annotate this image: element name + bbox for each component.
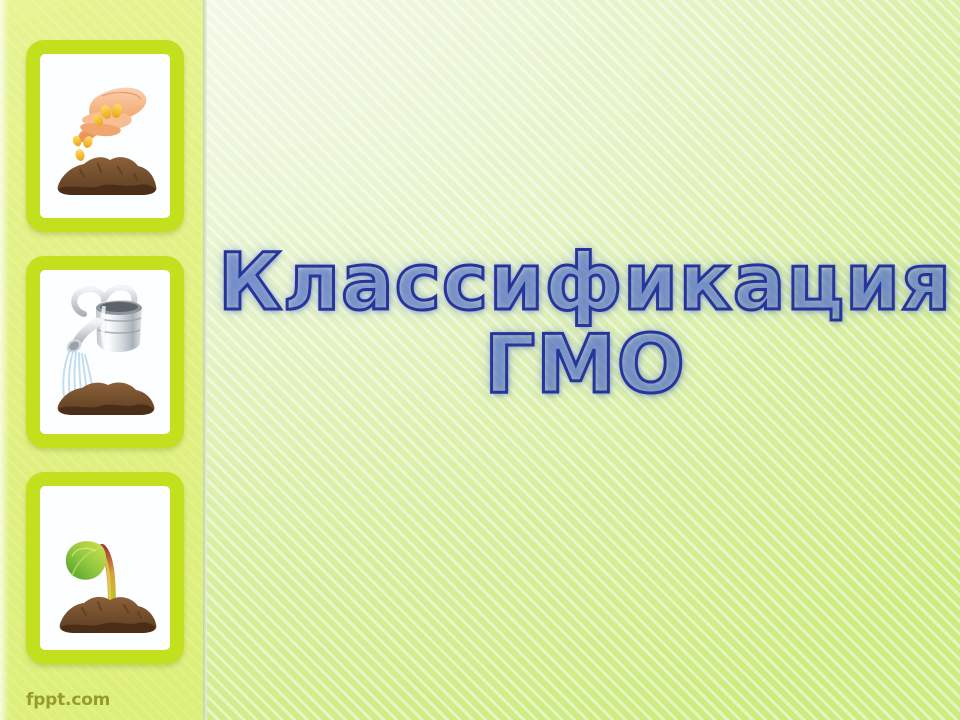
sprout-card-face [40, 486, 170, 650]
sowing-seeds-icon [40, 54, 170, 218]
watering-can-card-face [40, 270, 170, 434]
watering-can-icon [40, 270, 170, 434]
sowing-seeds-card-face [40, 54, 170, 218]
sidebar-edge-highlight [0, 0, 9, 720]
slide-title-line-2: ГМО [210, 324, 960, 406]
sowing-seeds-card [26, 40, 184, 232]
slide-title: Классификация ГМО [210, 244, 960, 405]
watermark-fppt: fppt.com [26, 690, 110, 710]
watering-can-card [26, 256, 184, 448]
sprout-card [26, 472, 184, 664]
slide-title-line-1: Классификация [210, 244, 960, 324]
sprout-icon [40, 486, 170, 650]
sidebar-divider [203, 0, 207, 720]
presentation-slide: Классификация ГМО fppt.com [0, 0, 960, 720]
